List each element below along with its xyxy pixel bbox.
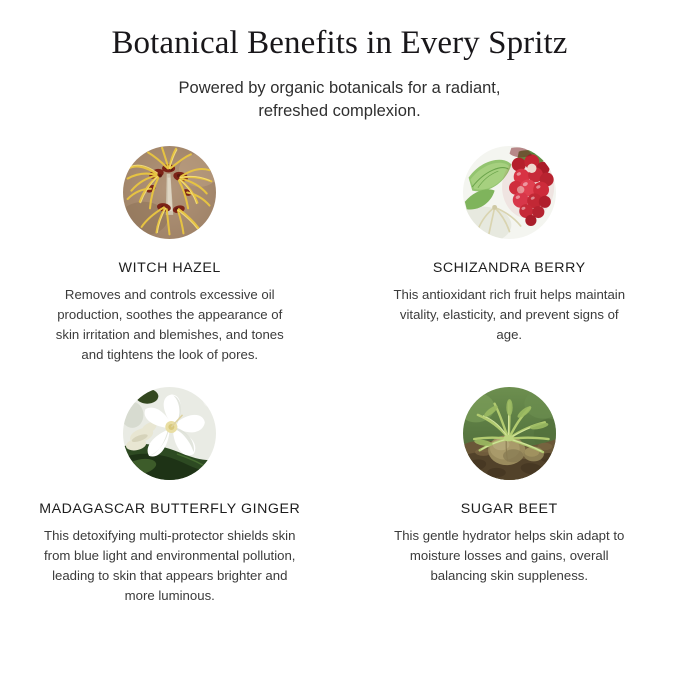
ingredient-grid: WITCH HAZEL Removes and controls excessi… xyxy=(0,146,679,607)
ingredient-card-madagascar-butterfly-ginger: MADAGASCAR BUTTERFLY GINGER This detoxif… xyxy=(0,387,340,606)
subtitle-line-2: refreshed complexion. xyxy=(125,100,555,123)
page-subtitle: Powered by organic botanicals for a radi… xyxy=(125,77,555,124)
header: Botanical Benefits in Every Spritz Power… xyxy=(0,0,679,124)
sugar-beet-illustration xyxy=(463,387,556,480)
ingredient-name-schizandra-berry: SCHIZANDRA BERRY xyxy=(433,260,586,276)
ingredient-name-sugar-beet: SUGAR BEET xyxy=(461,501,558,517)
butterfly-ginger-illustration xyxy=(123,387,216,480)
ingredient-card-sugar-beet: SUGAR BEET This gentle hydrator helps sk… xyxy=(340,387,679,606)
butterfly-ginger-image xyxy=(123,387,216,480)
page-title: Botanical Benefits in Every Spritz xyxy=(0,24,679,63)
witch-hazel-illustration xyxy=(123,146,216,239)
subtitle-line-1: Powered by organic botanicals for a radi… xyxy=(125,77,555,100)
ingredient-name-madagascar-butterfly-ginger: MADAGASCAR BUTTERFLY GINGER xyxy=(39,501,300,517)
sugar-beet-image xyxy=(463,387,556,480)
ingredient-description-madagascar-butterfly-ginger: This detoxifying multi-protector shields… xyxy=(44,526,296,606)
ingredient-description-schizandra-berry: This antioxidant rich fruit helps mainta… xyxy=(389,285,629,345)
ingredient-name-witch-hazel: WITCH HAZEL xyxy=(119,260,221,276)
ingredient-card-schizandra-berry: SCHIZANDRA BERRY This antioxidant rich f… xyxy=(340,146,679,365)
ingredient-description-sugar-beet: This gentle hydrator helps skin adapt to… xyxy=(389,526,629,586)
schizandra-berry-image xyxy=(463,146,556,239)
witch-hazel-image xyxy=(123,146,216,239)
ingredient-card-witch-hazel: WITCH HAZEL Removes and controls excessi… xyxy=(0,146,340,365)
botanical-benefits-panel: Botanical Benefits in Every Spritz Power… xyxy=(0,0,679,679)
ingredient-description-witch-hazel: Removes and controls excessive oil produ… xyxy=(50,285,290,365)
schizandra-berry-illustration xyxy=(463,146,556,239)
